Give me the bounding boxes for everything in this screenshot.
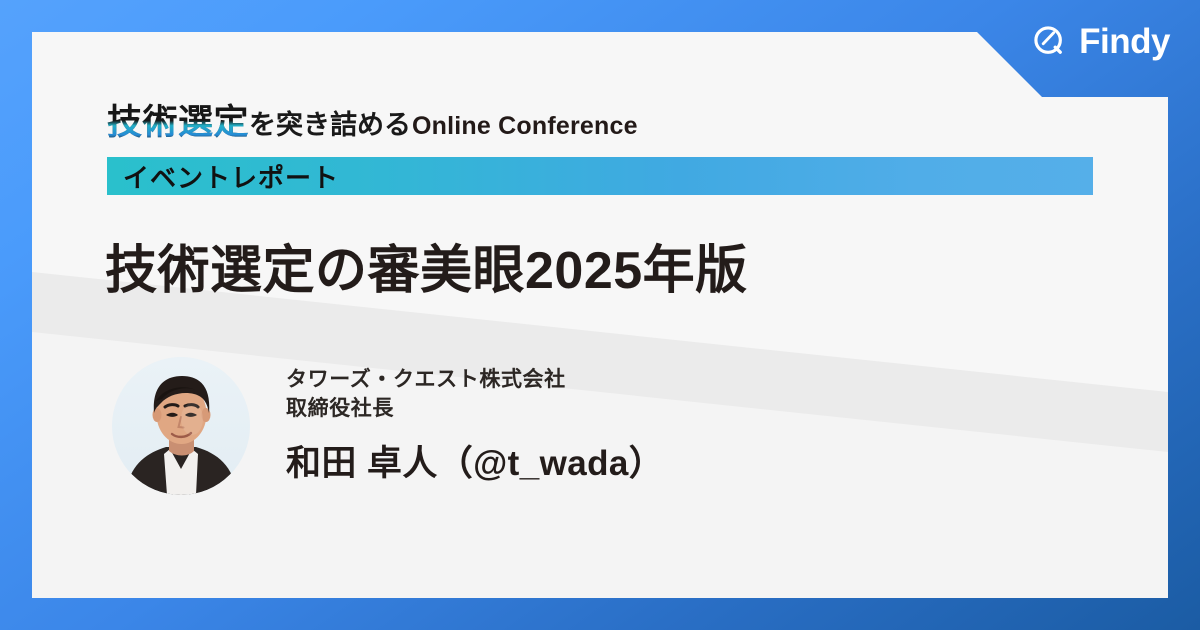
speaker-name: 和田 卓人（@t_wada） xyxy=(286,435,664,486)
findy-brand-logo: Findy xyxy=(1031,18,1170,64)
findy-brand-name: Findy xyxy=(1079,24,1170,59)
sheet-body: 技術選定 を突き詰める Online Conference イベントレポート 技… xyxy=(32,32,1168,598)
page-title: 技術選定の審美眼2025年版 xyxy=(105,228,748,303)
content-sheet: 技術選定 を突き詰める Online Conference イベントレポート 技… xyxy=(32,32,1168,598)
speaker-text: タワーズ・クエスト株式会社 取締役社長 和田 卓人（@t_wada） xyxy=(286,366,664,486)
speaker-organization: タワーズ・クエスト株式会社 xyxy=(286,366,664,394)
ogp-card: Findy 技術選定 を突き詰める Online Conference イベント… xyxy=(0,0,1200,630)
speaker-block: タワーズ・クエスト株式会社 取締役社長 和田 卓人（@t_wada） xyxy=(112,357,664,495)
ribbon-label: イベントレポート xyxy=(107,158,339,195)
findy-q-mark-icon xyxy=(1031,23,1068,60)
conference-title-english: Online Conference xyxy=(412,112,638,141)
conference-title: 技術選定 を突き詰める Online Conference xyxy=(107,94,638,145)
conference-title-highlight: 技術選定 xyxy=(107,94,249,145)
event-report-ribbon: イベントレポート xyxy=(107,157,1093,195)
speaker-role: 取締役社長 xyxy=(286,395,664,423)
conference-title-middle: を突き詰める xyxy=(249,103,411,142)
avatar xyxy=(112,357,250,495)
